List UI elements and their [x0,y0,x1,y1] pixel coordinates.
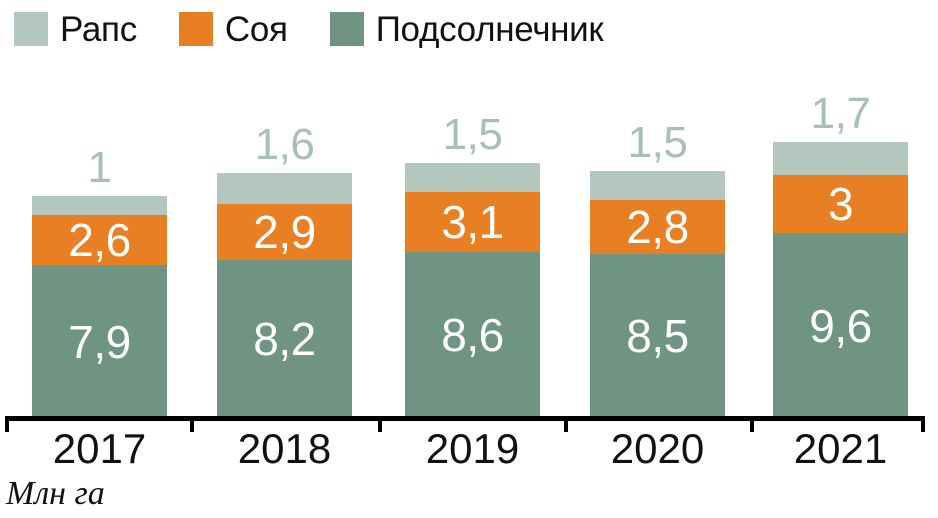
bar-segment-podsolnechnik-2019[interactable]: 8,6 [405,252,540,418]
x-axis-label-2017: 2017 [32,428,167,470]
x-axis-tick-1 [190,421,194,432]
bar-segment-podsolnechnik-2021[interactable]: 9,6 [773,233,908,418]
bar-stack-2019: 3,1 8,6 [405,163,540,418]
bar-segment-label-podsolnechnik-2019: 8,6 [441,312,503,358]
x-axis-tick-3 [564,421,568,432]
bar-group-2018[interactable]: 1,6 2,9 8,2 [217,173,352,418]
bar-segment-label-soya-2017: 2,6 [68,217,130,263]
bar-segment-podsolnechnik-2018[interactable]: 8,2 [217,260,352,418]
x-axis-tick-2 [378,421,382,432]
bar-segment-soya-2018[interactable]: 2,9 [217,204,352,260]
bar-segment-label-podsolnechnik-2020: 8,5 [626,313,688,359]
outside-label-raps-2021: 1,7 [773,92,908,136]
bar-stack-2021: 3 9,6 [773,142,908,418]
plot-area: 1 2,6 7,9 1,6 2,9 8,2 [0,0,938,418]
x-axis-label-2021: 2021 [773,428,908,470]
bar-segment-soya-2017[interactable]: 2,6 [32,215,167,265]
axis-units-caption: Млн га [6,477,105,511]
bar-segment-raps-2021[interactable] [773,142,908,175]
x-axis-label-2018: 2018 [217,428,352,470]
bar-segment-podsolnechnik-2017[interactable]: 7,9 [32,265,167,418]
x-axis-tick-4 [750,421,754,432]
bar-segment-label-soya-2020: 2,8 [626,204,688,250]
bar-segment-soya-2019[interactable]: 3,1 [405,192,540,252]
outside-label-raps-2017: 1 [32,146,167,190]
bar-segment-label-podsolnechnik-2018: 8,2 [253,316,315,362]
bar-group-2021[interactable]: 1,7 3 9,6 [773,142,908,418]
x-axis-line [5,416,925,421]
stacked-bar-chart: Рапс Соя Подсолнечник 1 2,6 7,9 [0,0,938,518]
bar-segment-raps-2019[interactable] [405,163,540,192]
bar-group-2020[interactable]: 1,5 2,8 8,5 [590,171,725,418]
outside-label-raps-2019: 1,5 [405,113,540,157]
bar-stack-2018: 2,9 8,2 [217,173,352,418]
bar-segment-soya-2021[interactable]: 3 [773,175,908,233]
x-axis-label-2020: 2020 [590,428,725,470]
outside-label-raps-2020: 1,5 [590,121,725,165]
outside-label-raps-2018: 1,6 [217,123,352,167]
bar-segment-label-podsolnechnik-2021: 9,6 [809,303,871,349]
bar-stack-2017: 2,6 7,9 [32,196,167,418]
bar-segment-label-podsolnechnik-2017: 7,9 [68,319,130,365]
bar-segment-soya-2020[interactable]: 2,8 [590,200,725,254]
bar-segment-raps-2020[interactable] [590,171,725,200]
bar-stack-2020: 2,8 8,5 [590,171,725,418]
bar-group-2019[interactable]: 1,5 3,1 8,6 [405,163,540,418]
bar-segment-label-soya-2019: 3,1 [441,199,503,245]
x-axis-label-2019: 2019 [405,428,540,470]
bar-group-2017[interactable]: 1 2,6 7,9 [32,196,167,418]
bar-segment-label-soya-2021: 3 [828,181,853,227]
x-axis-tick-5 [921,421,925,432]
x-axis-tick-0 [5,421,9,432]
bar-segment-label-soya-2018: 2,9 [253,209,315,255]
bar-segment-podsolnechnik-2020[interactable]: 8,5 [590,254,725,418]
bar-segment-raps-2018[interactable] [217,173,352,204]
bar-segment-raps-2017[interactable] [32,196,167,215]
